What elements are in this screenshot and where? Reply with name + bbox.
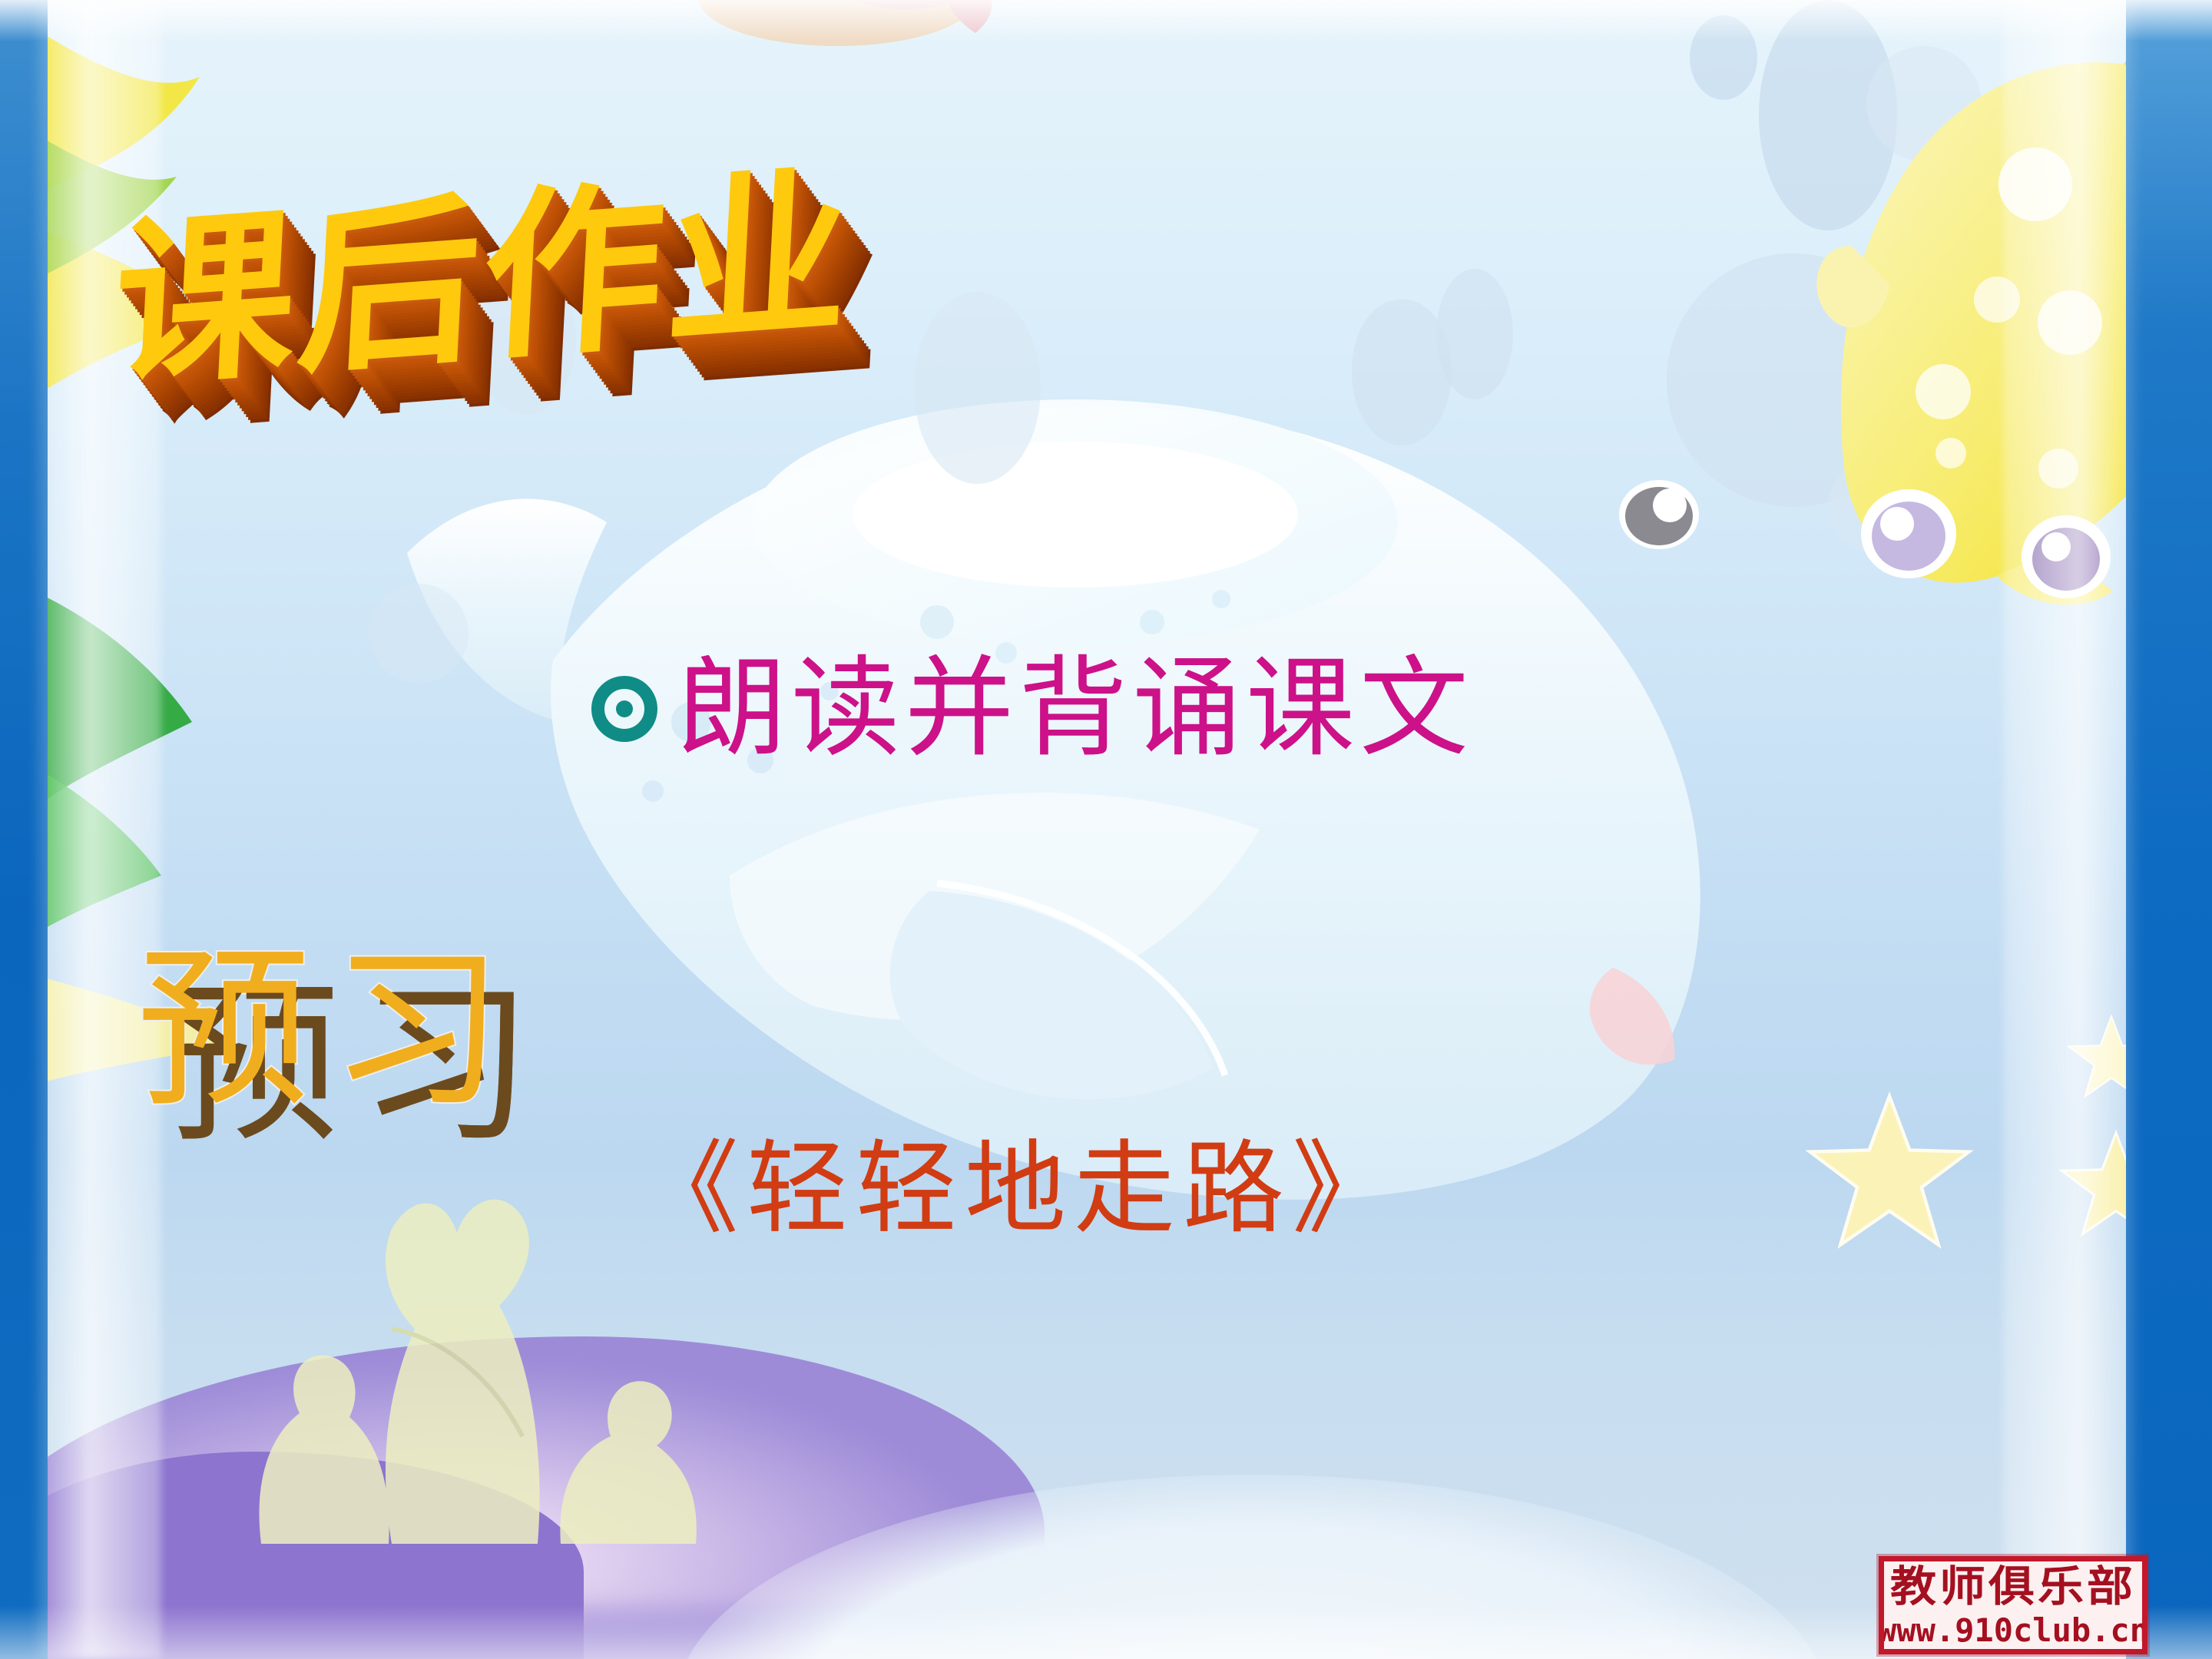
whale-illustration — [399, 292, 1820, 1275]
book-title-line: 《轻轻地走路》 — [637, 1138, 1401, 1240]
frame-glow-top — [0, 0, 2212, 41]
subtitle-wordart-preview: 预习 — [137, 889, 524, 1141]
frame-glow-right — [2003, 0, 2141, 1659]
bullet-line-recite: 朗读并背诵课文 — [591, 654, 1473, 763]
bubble-icon — [369, 584, 469, 684]
circled-dot-bullet-icon — [591, 676, 657, 742]
bubble-icon — [914, 292, 1041, 484]
bullet-line-label: 朗读并背诵课文 — [677, 654, 1473, 763]
title-wordart-homework: 课后作业 — [108, 104, 859, 422]
presentation-slide: 预习 预习 课后作业 朗读并背诵课文 《轻轻地走路》 教师俱乐部 www.910… — [0, 0, 2212, 1659]
star-icon — [1805, 1091, 1974, 1252]
watermark-url: www.910club.cn — [1879, 1614, 2147, 1647]
bubble-icon — [1436, 269, 1513, 399]
watermark-badge: 教师俱乐部 www.910club.cn — [1879, 1556, 2147, 1654]
watermark-name: 教师俱乐部 — [1890, 1565, 2136, 1608]
whale-eye-icon — [1619, 480, 1699, 549]
